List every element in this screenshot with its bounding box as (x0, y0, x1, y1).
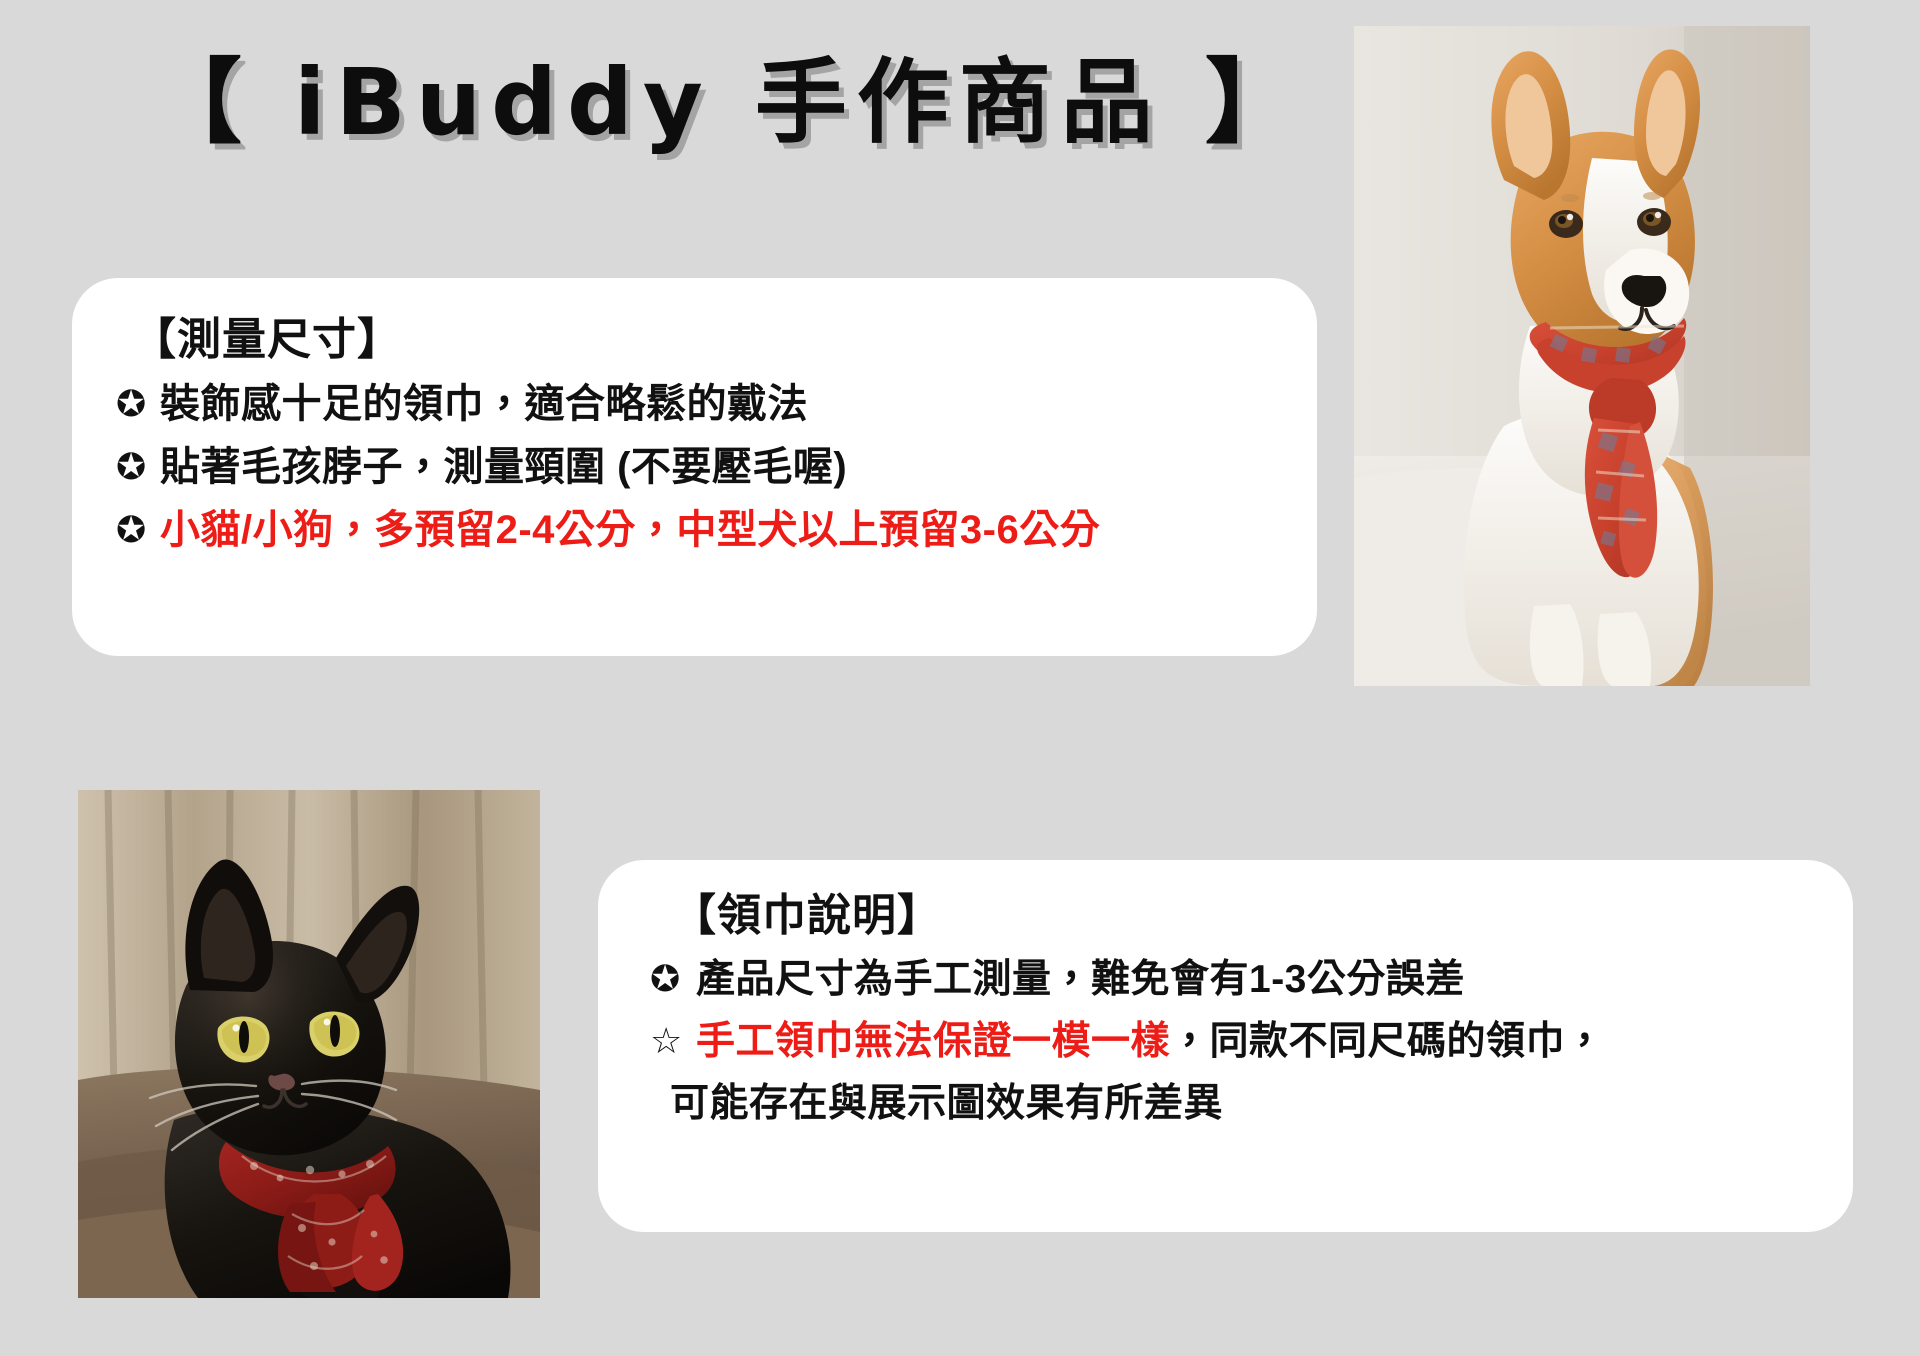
measure-bullet-1-text: 裝飾感十足的領巾，適合略鬆的戴法 (160, 373, 808, 436)
scarf-bullet-2: ☆ 手工領巾無法保證一模一樣 ，同款不同尺碼的領巾， (650, 1011, 1813, 1073)
measure-bullet-3-text: 小貓/小狗，多預留2-4公分，中型犬以上預留3-6公分 (160, 499, 1100, 562)
measure-card-heading: 【測量尺寸】 (132, 312, 1277, 367)
page-title: 【 iBuddy 手作商品 】 (150, 52, 1307, 153)
measure-bullet-3: ✪ 小貓/小狗，多預留2-4公分，中型犬以上預留3-6公分 (116, 499, 1277, 562)
measure-bullet-2-text: 貼著毛孩脖子，測量頸圍 (不要壓毛喔) (160, 436, 847, 499)
star-circle-bullet-icon: ✪ (650, 961, 696, 997)
scarf-card-heading: 【領巾說明】 (672, 888, 1813, 943)
scarf-bullet-1-text: 產品尺寸為手工測量，難免會有1-3公分誤差 (696, 949, 1465, 1011)
scarf-bullet-1: ✪ 產品尺寸為手工測量，難免會有1-3公分誤差 (650, 949, 1813, 1011)
star-outline-bullet-icon: ☆ (650, 1023, 696, 1059)
measure-size-card: 【測量尺寸】 ✪ 裝飾感十足的領巾，適合略鬆的戴法 ✪ 貼著毛孩脖子，測量頸圍 … (72, 278, 1317, 656)
measure-bullet-2: ✪ 貼著毛孩脖子，測量頸圍 (不要壓毛喔) (116, 436, 1277, 499)
corgi-wearing-red-bandana-photo (1354, 26, 1810, 686)
measure-bullet-1: ✪ 裝飾感十足的領巾，適合略鬆的戴法 (116, 373, 1277, 436)
black-cat-wearing-red-bandana-photo (78, 790, 540, 1298)
star-circle-bullet-icon: ✪ (116, 512, 160, 548)
scarf-bullet-2-text-black: ，同款不同尺碼的領巾， (1170, 1011, 1605, 1073)
star-circle-bullet-icon: ✪ (116, 386, 160, 422)
scarf-bullet-2-text-red: 手工領巾無法保證一模一樣 (696, 1011, 1170, 1073)
scarf-info-card: 【領巾說明】 ✪ 產品尺寸為手工測量，難免會有1-3公分誤差 ☆ 手工領巾無法保… (598, 860, 1853, 1232)
scarf-continuation-text: 可能存在與展示圖效果有所差異 (670, 1072, 1813, 1135)
star-circle-bullet-icon: ✪ (116, 449, 160, 485)
infographic-canvas: 【 iBuddy 手作商品 】 (0, 0, 1920, 1356)
